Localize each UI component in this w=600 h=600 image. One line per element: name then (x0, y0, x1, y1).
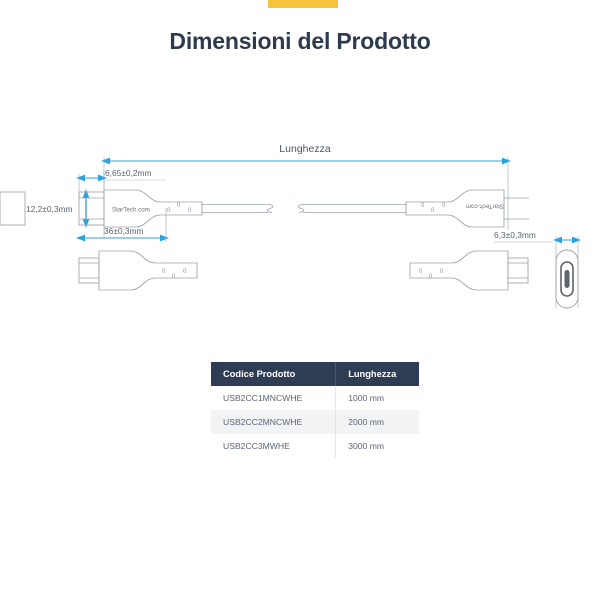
column-header-lunghezza: Lunghezza (336, 362, 419, 386)
cell-product-code: USB2CC1MNCWHE (211, 386, 336, 410)
port-mark: 0 (421, 203, 425, 209)
port-mark: 0 (167, 208, 171, 214)
page-title: Dimensioni del Prodotto (0, 28, 600, 55)
cell-length: 2000 mm (336, 410, 419, 434)
connector-left-upper: StarTech.com 0 0 0 (79, 190, 273, 227)
table-row: USB2CC1MNCWHE 1000 mm (211, 386, 419, 410)
port-mark: 0 (162, 269, 166, 275)
port-mark: 0 (419, 269, 423, 275)
dimension-connector-width: 6,65±0,2mm (76, 168, 166, 204)
dim-text-6-65: 6,65±0,2mm (105, 168, 152, 178)
product-dimensions-diagram: Lunghezza 6,65±0,2mm 12,2±0,3mm (0, 130, 600, 345)
port-mark: 0 (431, 208, 435, 214)
port-mark: 0 (172, 274, 176, 280)
cell-length: 3000 mm (336, 434, 419, 458)
cell-length: 1000 mm (336, 386, 419, 410)
port-mark: 0 (440, 269, 444, 275)
overall-length-dimension (101, 157, 511, 238)
column-header-codice-prodotto: Codice Prodotto (211, 362, 336, 386)
port-mark: 0 (183, 269, 187, 275)
dimension-connector-height: 12,2±0,3mm (26, 189, 92, 228)
accent-bar (268, 0, 338, 8)
table-header-row: Codice Prodotto Lunghezza (211, 362, 419, 386)
connector-right-lower: 0 0 0 (410, 251, 528, 290)
page-root: Dimensioni del Prodotto Lunghezza 6,65±0… (0, 0, 600, 600)
connector-left-lower: 0 0 0 (79, 251, 197, 290)
brand-text-right: StarTech.com (466, 203, 504, 210)
connector-front-view-usb-c (556, 250, 578, 308)
dim-text-36: 36±0,3mm (104, 226, 144, 236)
brand-text-left: StarTech.com (112, 207, 150, 214)
cell-product-code: USB2CC3MWHE (211, 434, 336, 458)
dim-text-12-2: 12,2±0,3mm (26, 204, 73, 214)
table-row: USB2CC3MWHE 3000 mm (211, 434, 419, 458)
dim-text-6-3: 6,3±0,3mm (494, 230, 536, 240)
cell-product-code: USB2CC2MNCWHE (211, 410, 336, 434)
port-mark: 0 (429, 274, 433, 280)
product-spec-table: Codice Prodotto Lunghezza USB2CC1MNCWHE … (211, 362, 419, 458)
port-mark: 0 (177, 203, 181, 209)
port-mark: 0 (442, 203, 446, 209)
label-lunghezza: Lunghezza (279, 143, 331, 155)
table-row: USB2CC2MNCWHE 2000 mm (211, 410, 419, 434)
port-mark: 0 (188, 208, 192, 214)
